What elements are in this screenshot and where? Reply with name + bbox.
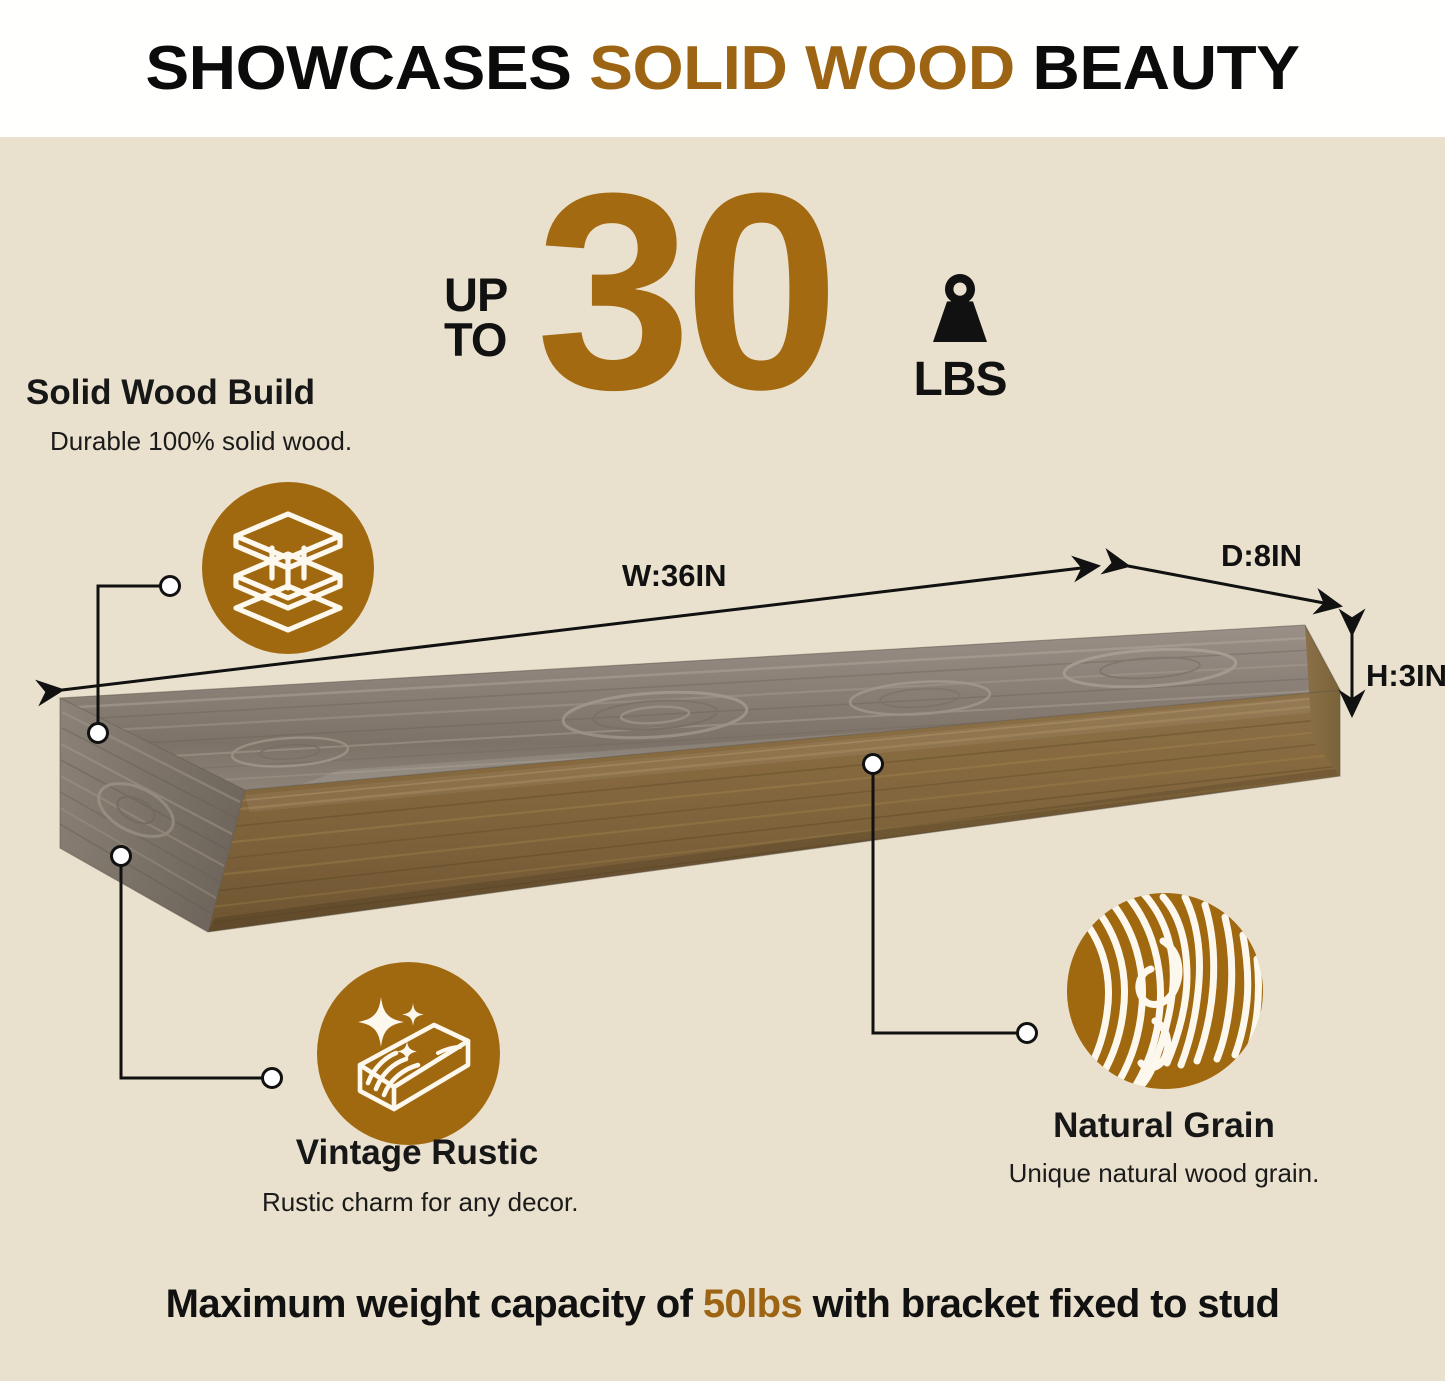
capacity-number: 30 xyxy=(536,152,831,432)
to-label: TO xyxy=(444,317,507,362)
capacity-unit-group: LBS xyxy=(895,268,1025,404)
wood-grain-swirl-icon xyxy=(1067,893,1263,1089)
footer-text-after: with bracket fixed to stud xyxy=(802,1282,1279,1326)
feature-title: Solid Wood Build xyxy=(20,375,321,412)
up-label: UP xyxy=(444,272,507,317)
feature-title: Vintage Rustic xyxy=(290,1135,544,1172)
weight-capacity-badge: UP TO 30 LBS xyxy=(440,180,1030,400)
headline-part-1: SHOWCASES xyxy=(145,34,589,103)
footer-statement: Maximum weight capacity of 50lbs with br… xyxy=(0,1282,1445,1327)
capacity-unit: LBS xyxy=(895,356,1025,404)
weight-icon xyxy=(917,268,1003,354)
headline-part-2: SOLID WOOD xyxy=(589,34,1015,103)
feature-title-text: Solid Wood Build xyxy=(26,373,315,412)
feature-solid-wood-build: Solid Wood Build Durable 100% solid wood… xyxy=(20,375,352,457)
footer-text-before: Maximum weight capacity of xyxy=(166,1282,703,1326)
up-to-label: UP TO xyxy=(444,272,507,362)
page-title: SHOWCASES SOLID WOOD BEAUTY xyxy=(145,38,1299,100)
feature-title: Natural Grain xyxy=(1047,1108,1281,1145)
feature-vintage-rustic: Vintage Rustic Rustic charm for any deco… xyxy=(262,1135,572,1218)
infographic-stage: SHOWCASES SOLID WOOD BEAUTY xyxy=(0,0,1445,1381)
stacked-planks-icon xyxy=(202,482,374,654)
feature-title-text: Vintage Rustic xyxy=(296,1133,538,1172)
headline-part-3: BEAUTY xyxy=(1015,34,1300,103)
feature-natural-grain: Natural Grain Unique natural wood grain. xyxy=(1008,1108,1320,1189)
sparkle-plank-icon xyxy=(317,962,500,1145)
footer-highlight: 50lbs xyxy=(703,1282,802,1326)
feature-title-text: Natural Grain xyxy=(1053,1106,1275,1145)
feature-subtitle: Unique natural wood grain. xyxy=(1008,1158,1320,1189)
feature-subtitle: Rustic charm for any decor. xyxy=(262,1187,572,1218)
feature-subtitle: Durable 100% solid wood. xyxy=(50,426,352,457)
header-band: SHOWCASES SOLID WOOD BEAUTY xyxy=(0,0,1445,137)
